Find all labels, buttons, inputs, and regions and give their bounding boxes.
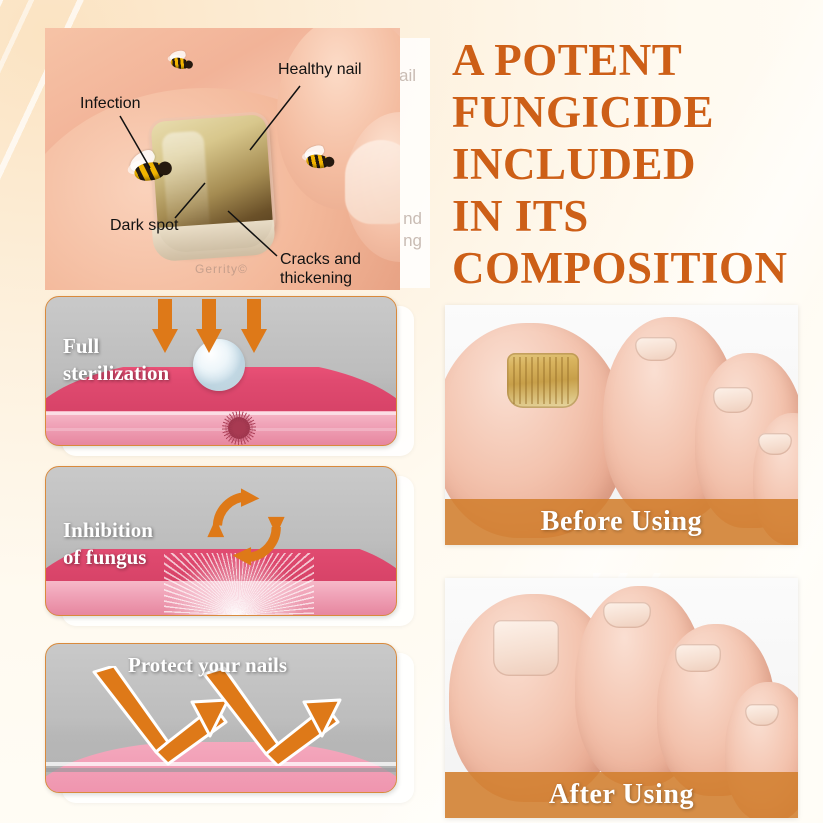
ghost-label-cracks-2: ng — [403, 230, 422, 252]
mechanism-label-protect-your-nails: Protect your nails — [128, 652, 287, 679]
ghost-label-cracks-1: nd — [403, 208, 422, 230]
zigzag-arrows-icon — [64, 666, 382, 766]
diagram-watermark: Gerrity© — [195, 262, 248, 276]
product-poster: A POTENT FUNGICIDE INCLUDED IN ITS COMPO… — [0, 0, 823, 823]
skin-layer-line — [46, 412, 396, 415]
nail-fungus-diagram: Healthy nail Infection Dark spot Cracks … — [45, 28, 400, 290]
mechanism-panel-full-sterilization: Full sterilization — [45, 296, 397, 446]
label-infection: Infection — [80, 94, 140, 113]
down-arrow-icon — [196, 299, 222, 353]
skin-layer-line — [46, 428, 396, 431]
toenail — [603, 602, 651, 628]
before-photo: Before Using — [445, 305, 798, 545]
healed-toenail — [493, 620, 559, 676]
mechanism-label-line-2: of fungus — [63, 544, 153, 571]
headline-line-3: INCLUDED — [452, 138, 812, 190]
mechanism-label-line-1: Full — [63, 333, 169, 360]
mechanism-label-line-1: Protect your nails — [128, 652, 287, 679]
mechanism-label-line-1: Inhibition — [63, 517, 153, 544]
mechanism-label-full-sterilization: Full sterilization — [63, 333, 169, 387]
headline-line-2: FUNGICIDE — [452, 86, 812, 138]
germ-icon — [228, 417, 250, 439]
mechanism-label-line-2: sterilization — [63, 360, 169, 387]
mechanism-panel-protect-your-nails: Protect your nails — [45, 643, 397, 793]
cycle-arrows-icon — [204, 485, 288, 569]
toenail — [635, 337, 677, 361]
after-photo: After Using — [445, 578, 798, 818]
mechanism-panel-inhibition-of-fungus: Inhibition of fungus — [45, 466, 397, 616]
label-cracks-and-thickening: Cracks and thickening — [280, 250, 390, 288]
toenail — [713, 387, 753, 413]
label-healthy-nail: Healthy nail — [278, 60, 362, 79]
after-caption: After Using — [445, 772, 798, 818]
headline: A POTENT FUNGICIDE INCLUDED IN ITS COMPO… — [452, 34, 812, 294]
skin-layer-line — [46, 768, 396, 772]
before-caption: Before Using — [445, 499, 798, 545]
down-arrow-icon — [241, 299, 267, 353]
toenail — [675, 644, 721, 672]
ghost-label-cracks: nd ng — [403, 208, 422, 252]
ghost-label-nail: ail — [399, 66, 416, 86]
headline-line-5: COMPOSITION — [452, 242, 812, 294]
headline-line-4: IN ITS — [452, 190, 812, 242]
mechanism-label-inhibition-of-fungus: Inhibition of fungus — [63, 517, 153, 571]
label-dark-spot: Dark spot — [110, 216, 178, 235]
infected-toenail — [507, 353, 579, 408]
headline-line-1: A POTENT — [452, 34, 812, 86]
